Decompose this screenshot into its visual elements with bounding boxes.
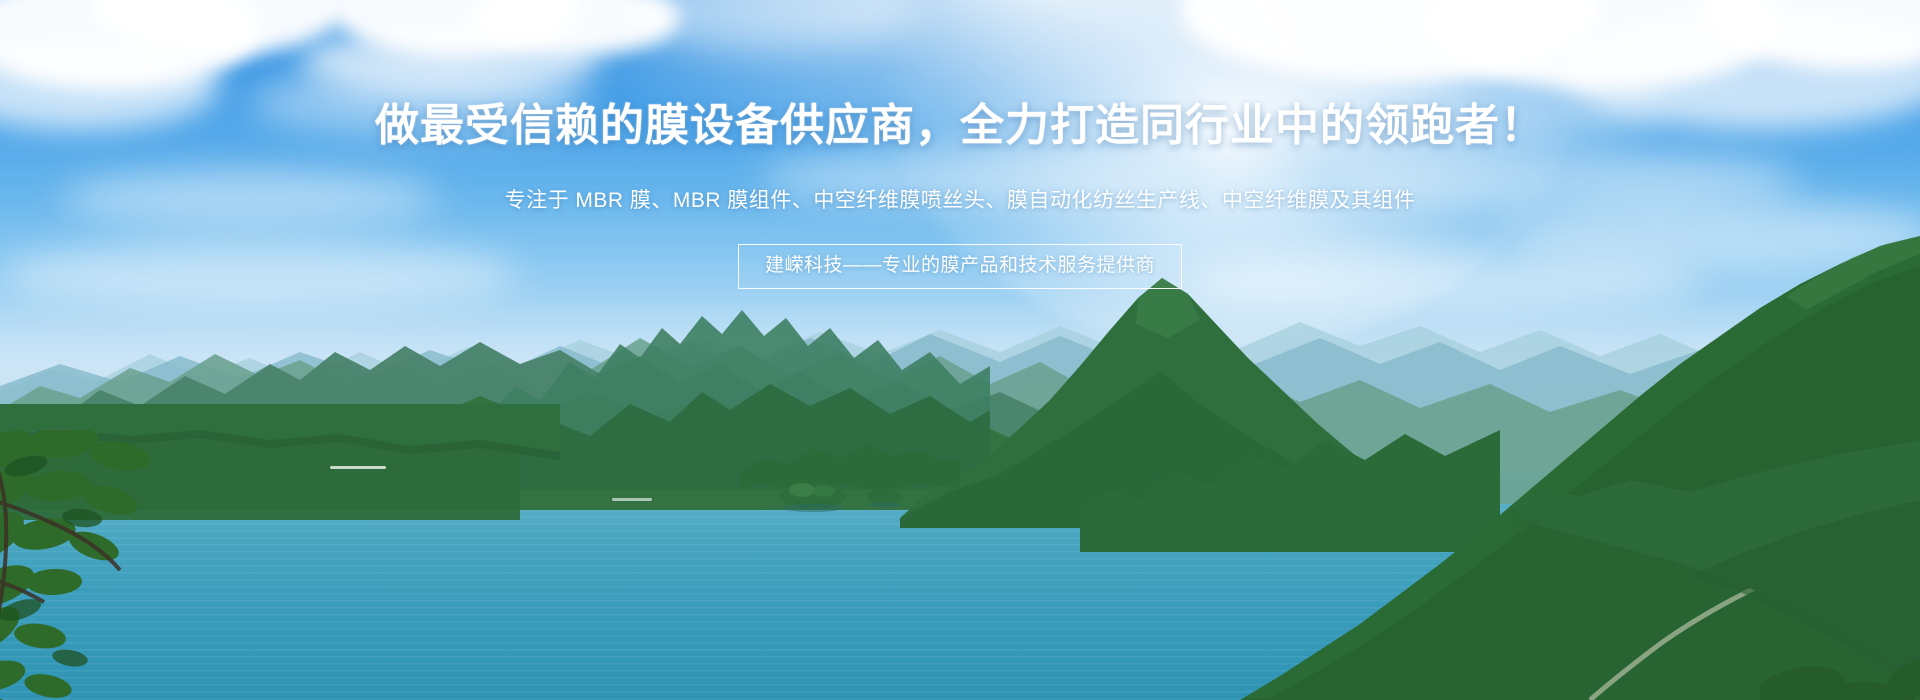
banner-subheadline: 专注于 MBR 膜、MBR 膜组件、中空纤维膜喷丝头、膜自动化纺丝生产线、中空纤… <box>0 186 1920 216</box>
banner-tagline: 建嵘科技——专业的膜产品和技术服务提供商 <box>738 244 1182 289</box>
banner-text-overlay: 做最受信赖的膜设备供应商，全力打造同行业中的领跑者！ 专注于 MBR 膜、MBR… <box>0 0 1920 700</box>
banner-tagline-container: 建嵘科技——专业的膜产品和技术服务提供商 <box>0 244 1920 289</box>
banner-headline: 做最受信赖的膜设备供应商，全力打造同行业中的领跑者！ <box>0 100 1920 152</box>
hero-banner: 做最受信赖的膜设备供应商，全力打造同行业中的领跑者！ 专注于 MBR 膜、MBR… <box>0 0 1920 700</box>
